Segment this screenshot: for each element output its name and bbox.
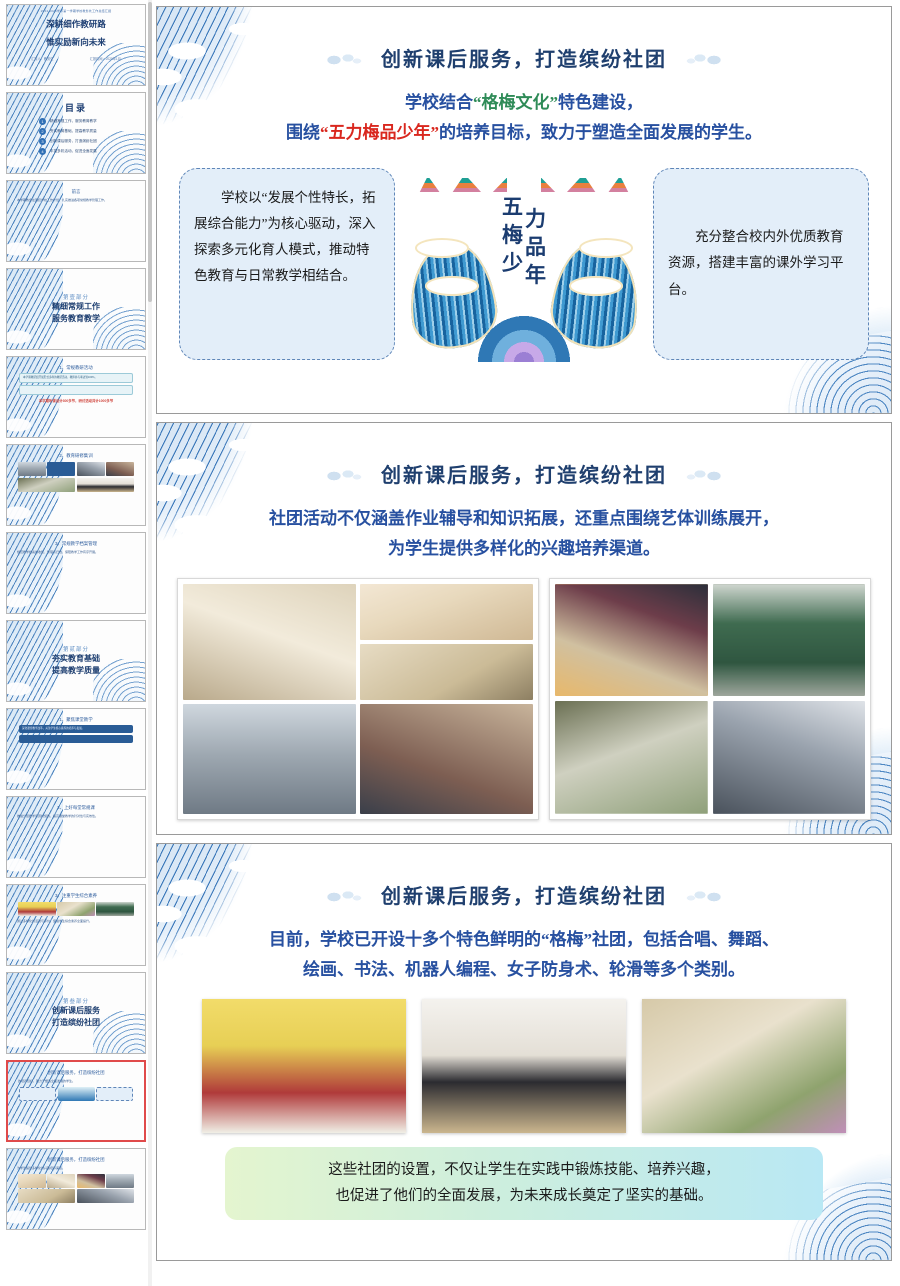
ribbon-icon	[415, 170, 507, 250]
cloud-icon	[320, 51, 364, 67]
toc-bullet-icon: 4	[39, 148, 46, 155]
slide-2-lead-line-1: 社团活动不仅涵盖作业辅导和知识拓展，还重点围绕艺体训练展开，	[157, 504, 891, 534]
thumb-14-lead: 为学生提供多样化的兴趣培养渠道。	[17, 1166, 135, 1171]
photo-classroom-wide-shot	[183, 704, 356, 814]
slide-thumbnail-3[interactable]: 前言 本学期教务处围绕学校工作计划，扎实推进各项常规教学管理工作。	[6, 180, 146, 262]
lead-2a: 围绕	[286, 123, 320, 142]
slide-3-lead-line-2: 绘画、书法、机器人编程、女子防身术、轮滑等多个类别。	[157, 955, 891, 985]
photo-grid-left	[183, 584, 533, 814]
slide-thumbnail-7[interactable]: 3、常规教学档案管理 规范教学档案的收集、整理与归档，保障教学工作有序开展。	[6, 532, 146, 614]
emblem-char: 力	[525, 206, 546, 232]
thumb-1-meta-right: 汇报时间：2025年1月	[90, 56, 121, 61]
thumb-bubble	[96, 1087, 133, 1101]
ribbon-icon	[541, 170, 633, 250]
slide-thumbnail-12[interactable]: 第叁部分 创新课后服务 打造缤纷社团	[6, 972, 146, 1054]
slide-3-title: 创新课后服务，打造缤纷社团	[381, 886, 667, 908]
thumb-12-line2: 打造缤纷社团	[52, 1017, 100, 1029]
photo-choir-group-photo	[202, 999, 406, 1133]
slide-thumbnail-2[interactable]: 目录 1 精细常规工作，服务教育教学 2 夯实教育基础，提高教学质量 3 创新课…	[6, 92, 146, 174]
thumb-4-line1: 精细常规工作	[52, 301, 100, 313]
slide-thumbnail-panel[interactable]: 2024-2025学年第一学期学校教务处工作总结汇报 深耕细作教研路 惟实励新向…	[0, 0, 152, 1286]
thumb-3-body: 本学期教务处围绕学校工作计划，扎实推进各项常规教学管理工作。	[17, 198, 135, 203]
slide-1-title-row: 创新课后服务，打造缤纷社团	[157, 7, 891, 72]
thumb-photo	[18, 478, 75, 492]
slide-stage: 创新课后服务，打造缤纷社团 学校结合“格梅文化”特色建设， 围绕“五力梅品少年”…	[152, 0, 900, 1286]
photo-computer-lab	[713, 701, 866, 814]
thumb-12-line1: 创新课后服务	[52, 1005, 100, 1017]
thumb-photo	[18, 902, 56, 916]
toc-item: 4 丰富多彩活动，促进全面发展	[39, 148, 139, 155]
slide-1-lead: 学校结合“格梅文化”特色建设， 围绕“五力梅品少年”的培养目标，致力于塑造全面发…	[157, 88, 891, 148]
cloud-icon	[320, 467, 364, 483]
slide-thumbnail-6[interactable]: 2、教育研修集训	[6, 444, 146, 526]
thumb-1-line2: 惟实励新向未来	[13, 36, 139, 49]
photo-student-writing-brush	[183, 584, 356, 700]
thumb-5-body: 本学期教研组开展形式多样的教研活动，教师参与率达到100%。	[19, 373, 133, 383]
thumb-1-meta-left: 汇报人：教务处	[31, 56, 53, 61]
slide-1[interactable]: 创新课后服务，打造缤纷社团 学校结合“格梅文化”特色建设， 围绕“五力梅品少年”…	[156, 6, 892, 414]
cloud-icon	[684, 51, 728, 67]
thumb-photo	[77, 1174, 105, 1188]
lead-2c: 的培养目标，致力于塑造全面发展的学生。	[439, 123, 762, 142]
toc-item-label: 丰富多彩活动，促进全面发展	[50, 149, 97, 154]
toc-bullet-icon: 2	[39, 128, 46, 135]
photo-calligraphy-hand-writing	[360, 584, 533, 640]
emblem-column-1: 五 梅 少	[502, 194, 523, 289]
emblem-char: 五	[502, 194, 523, 220]
toc-item-label: 创新课后服务，打造缤纷社团	[50, 139, 97, 144]
photo-dance-club-rehearsal	[422, 999, 626, 1133]
thumb-5-heading: 1、常规教研活动	[13, 365, 139, 371]
thumb-10-heading: 2、上好每堂常规课	[13, 805, 139, 811]
thumb-14-heading: 创新课后服务，打造缤纷社团	[13, 1157, 139, 1163]
thumb-photo	[96, 902, 134, 916]
rainbow-wave-base-icon	[477, 314, 571, 362]
emblem-column-2: 力 品 年	[525, 194, 546, 289]
thumb-5-box-2	[19, 385, 133, 395]
cloud-icon	[684, 467, 728, 483]
toc-bullet-icon: 1	[39, 118, 46, 125]
slide-thumbnail-13-selected[interactable]: 创新课后服务，打造缤纷社团 的培养目标，致力于塑造全面发展的学生。	[6, 1060, 146, 1142]
photo-grid-right	[555, 584, 865, 814]
thumb-8-line2: 提高教学质量	[52, 665, 100, 677]
thumb-11-photos	[18, 902, 134, 916]
thumb-9-heading: 1、聚焦课堂教学	[13, 717, 139, 723]
photo-blackboard-activity	[713, 584, 866, 697]
thumb-13-heading: 创新课后服务，打造缤纷社团	[14, 1070, 138, 1076]
lead-1b: “格梅文化”	[473, 93, 558, 112]
snow-cap-icon	[569, 276, 623, 296]
presentation-viewer: 2024-2025学年第一学期学校教务处工作总结汇报 深耕细作教研路 惟实励新向…	[0, 0, 900, 1286]
photo-frame-left	[177, 578, 539, 820]
slide-1-lead-line-2: 围绕“五力梅品少年”的培养目标，致力于塑造全面发展的学生。	[157, 118, 891, 148]
thumb-photo	[47, 1174, 75, 1188]
slide-2-title: 创新课后服务，打造缤纷社团	[381, 465, 667, 487]
callout-right-text: 充分整合校内外优质教育资源，搭建丰富的课外学习平台。	[668, 224, 854, 303]
toc-item: 2 夯实教育基础，提高教学质量	[39, 128, 139, 135]
slide-2-title-row: 创新课后服务，打造缤纷社团	[157, 423, 891, 488]
slide-thumbnail-1[interactable]: 2024-2025学年第一学期学校教务处工作总结汇报 深耕细作教研路 惟实励新向…	[6, 4, 146, 86]
thumb-photo	[77, 1189, 134, 1203]
slide-3-footnote-line-1: 这些社团的设置，不仅让学生在实践中锻炼技能、培养兴趣，	[241, 1157, 807, 1184]
thumb-11-heading: 3、注重学生综合素养	[13, 893, 139, 899]
slide-1-lead-line-1: 学校结合“格梅文化”特色建设，	[157, 88, 891, 118]
thumb-4-section-label: 第壹部分	[63, 293, 89, 301]
slide-thumbnail-14[interactable]: 创新课后服务，打造缤纷社团 为学生提供多样化的兴趣培养渠道。	[6, 1148, 146, 1230]
thumb-photo	[18, 1174, 46, 1188]
thumb-11-body: 通过多样化的活动与评价，促进学生综合素养全面提升。	[17, 919, 135, 924]
thumb-5-redline: 本学期听课总计300多节，研讨活动共计1000多节	[13, 398, 139, 403]
thumb-8-line1: 夯实教育基础	[52, 653, 100, 665]
thumb-photo	[57, 902, 95, 916]
slide-thumbnail-4[interactable]: 第壹部分 精细常规工作 服务教育教学	[6, 268, 146, 350]
photo-art-craft-club	[642, 999, 846, 1133]
lead-2b: “五力梅品少年”	[320, 123, 439, 142]
emblem-char: 少	[502, 250, 523, 276]
thumb-1-subtitle: 2024-2025学年第一学期学校教务处工作总结汇报	[13, 9, 139, 13]
emblem-char: 梅	[502, 222, 523, 248]
lead-1a: 学校结合	[405, 93, 473, 112]
thumb-12-section-label: 第叁部分	[63, 997, 89, 1005]
thumb-13-lead: 的培养目标，致力于塑造全面发展的学生。	[18, 1079, 134, 1084]
thumb-1-line1: 深耕细作教研路	[13, 18, 139, 31]
thumb-photo	[18, 462, 46, 476]
thumb-6-photos	[18, 462, 134, 492]
thumb-7-body: 规范教学档案的收集、整理与归档，保障教学工作有序开展。	[17, 550, 135, 555]
thumb-9-box-2	[19, 735, 133, 743]
slide-3-footnote-line-2: 也促进了他们的全面发展，为未来成长奠定了坚实的基础。	[241, 1183, 807, 1210]
thumb-6-heading: 2、教育研修集训	[13, 453, 139, 459]
wuli-meipin-emblem: 五 梅 少 力 品 年	[409, 164, 639, 364]
callout-left-text: 学校以“发展个性特长，拓展综合能力”为核心驱动，深入探索多元化育人模式，推动特色…	[194, 185, 380, 290]
thumb-8-section-label: 第贰部分	[63, 645, 89, 653]
thumb-photo	[77, 478, 134, 492]
toc-item-label: 夯实教育基础，提高教学质量	[50, 129, 97, 134]
thumb-emblem	[58, 1087, 95, 1101]
slide-1-columns: 学校以“发展个性特长，拓展综合能力”为核心驱动，深入探索多元化育人模式，推动特色…	[179, 164, 869, 364]
toc-bullet-icon: 3	[39, 138, 46, 145]
callout-right: 充分整合校内外优质教育资源，搭建丰富的课外学习平台。	[653, 168, 869, 360]
thumb-photo	[77, 462, 105, 476]
cloud-icon	[684, 888, 728, 904]
emblem-char: 年	[525, 262, 546, 288]
cloud-icon	[320, 888, 364, 904]
lead-1c: 特色建设，	[558, 93, 643, 112]
slide-3-footnote: 这些社团的设置，不仅让学生在实践中锻炼技能、培养兴趣， 也促进了他们的全面发展，…	[225, 1147, 823, 1221]
slide-1-title: 创新课后服务，打造缤纷社团	[381, 49, 667, 71]
slide-thumbnail-11[interactable]: 3、注重学生综合素养 通过多样化的活动与评价，促进学生综合素养全面提升。	[6, 884, 146, 966]
thumb-photo	[47, 462, 75, 476]
slide-thumbnail-9[interactable]: 1、聚焦课堂教学 深化课堂教学改革，关注学生核心素养的培养与发展。	[6, 708, 146, 790]
emblem-text: 五 梅 少 力 品 年	[502, 194, 546, 289]
thumb-photo	[18, 1189, 75, 1203]
slide-2-photo-groups	[175, 578, 873, 820]
toc-item-label: 精细常规工作，服务教育教学	[50, 119, 97, 124]
thumb-13-bubbles	[19, 1087, 133, 1101]
snow-cap-icon	[415, 238, 469, 258]
thumb-photo	[106, 462, 134, 476]
slide-3-photos	[157, 999, 891, 1133]
slide-thumbnail-10[interactable]: 2、上好每堂常规课 推进分层教学与因材施教，提高课堂教学的针对性与实效性。	[6, 796, 146, 878]
toc-item: 1 精细常规工作，服务教育教学	[39, 118, 139, 125]
thumb-4-line2: 服务教育教学	[52, 313, 100, 325]
thumb-3-heading: 前言	[13, 189, 139, 195]
snow-cap-icon	[425, 276, 479, 296]
photo-craft-workshop	[555, 701, 708, 814]
thumb-7-heading: 3、常规教学档案管理	[13, 541, 139, 547]
thumb-10-body: 推进分层教学与因材施教，提高课堂教学的针对性与实效性。	[17, 814, 135, 819]
slide-3[interactable]: 创新课后服务，打造缤纷社团 目前，学校已开设十多个特色鲜明的“格梅”社团，包括合…	[156, 843, 892, 1261]
callout-left: 学校以“发展个性特长，拓展综合能力”为核心驱动，深入探索多元化育人模式，推动特色…	[179, 168, 395, 360]
slide-3-lead-line-1: 目前，学校已开设十多个特色鲜明的“格梅”社团，包括合唱、舞蹈、	[157, 925, 891, 955]
photo-costume-performance	[555, 584, 708, 697]
toc-item: 3 创新课后服务，打造缤纷社团	[39, 138, 139, 145]
thumb-14-photos	[18, 1174, 134, 1204]
thumb-bubble	[19, 1087, 56, 1101]
slide-thumbnail-8[interactable]: 第贰部分 夯实教育基础 提高教学质量	[6, 620, 146, 702]
slide-2[interactable]: 创新课后服务，打造缤纷社团 社团活动不仅涵盖作业辅导和知识拓展，还重点围绕艺体训…	[156, 422, 892, 835]
slide-3-lead: 目前，学校已开设十多个特色鲜明的“格梅”社团，包括合唱、舞蹈、 绘画、书法、机器…	[157, 925, 891, 985]
snow-cap-icon	[579, 238, 633, 258]
slide-2-lead: 社团活动不仅涵盖作业辅导和知识拓展，还重点围绕艺体训练展开， 为学生提供多样化的…	[157, 504, 891, 564]
emblem-char: 品	[525, 234, 546, 260]
photo-girl-practising-calligraphy	[360, 644, 533, 700]
thumb-2-heading: 目录	[13, 101, 139, 114]
photo-frame-right	[549, 578, 871, 820]
thumb-9-body: 深化课堂教学改革，关注学生核心素养的培养与发展。	[19, 725, 133, 733]
slide-thumbnail-5[interactable]: 1、常规教研活动 本学期教研组开展形式多样的教研活动，教师参与率达到100%。 …	[6, 356, 146, 438]
slide-2-lead-line-2: 为学生提供多样化的兴趣培养渠道。	[157, 534, 891, 564]
thumb-photo	[106, 1174, 134, 1188]
photo-desk-calligraphy-closeup	[360, 704, 533, 814]
slide-3-title-row: 创新课后服务，打造缤纷社团	[157, 844, 891, 909]
